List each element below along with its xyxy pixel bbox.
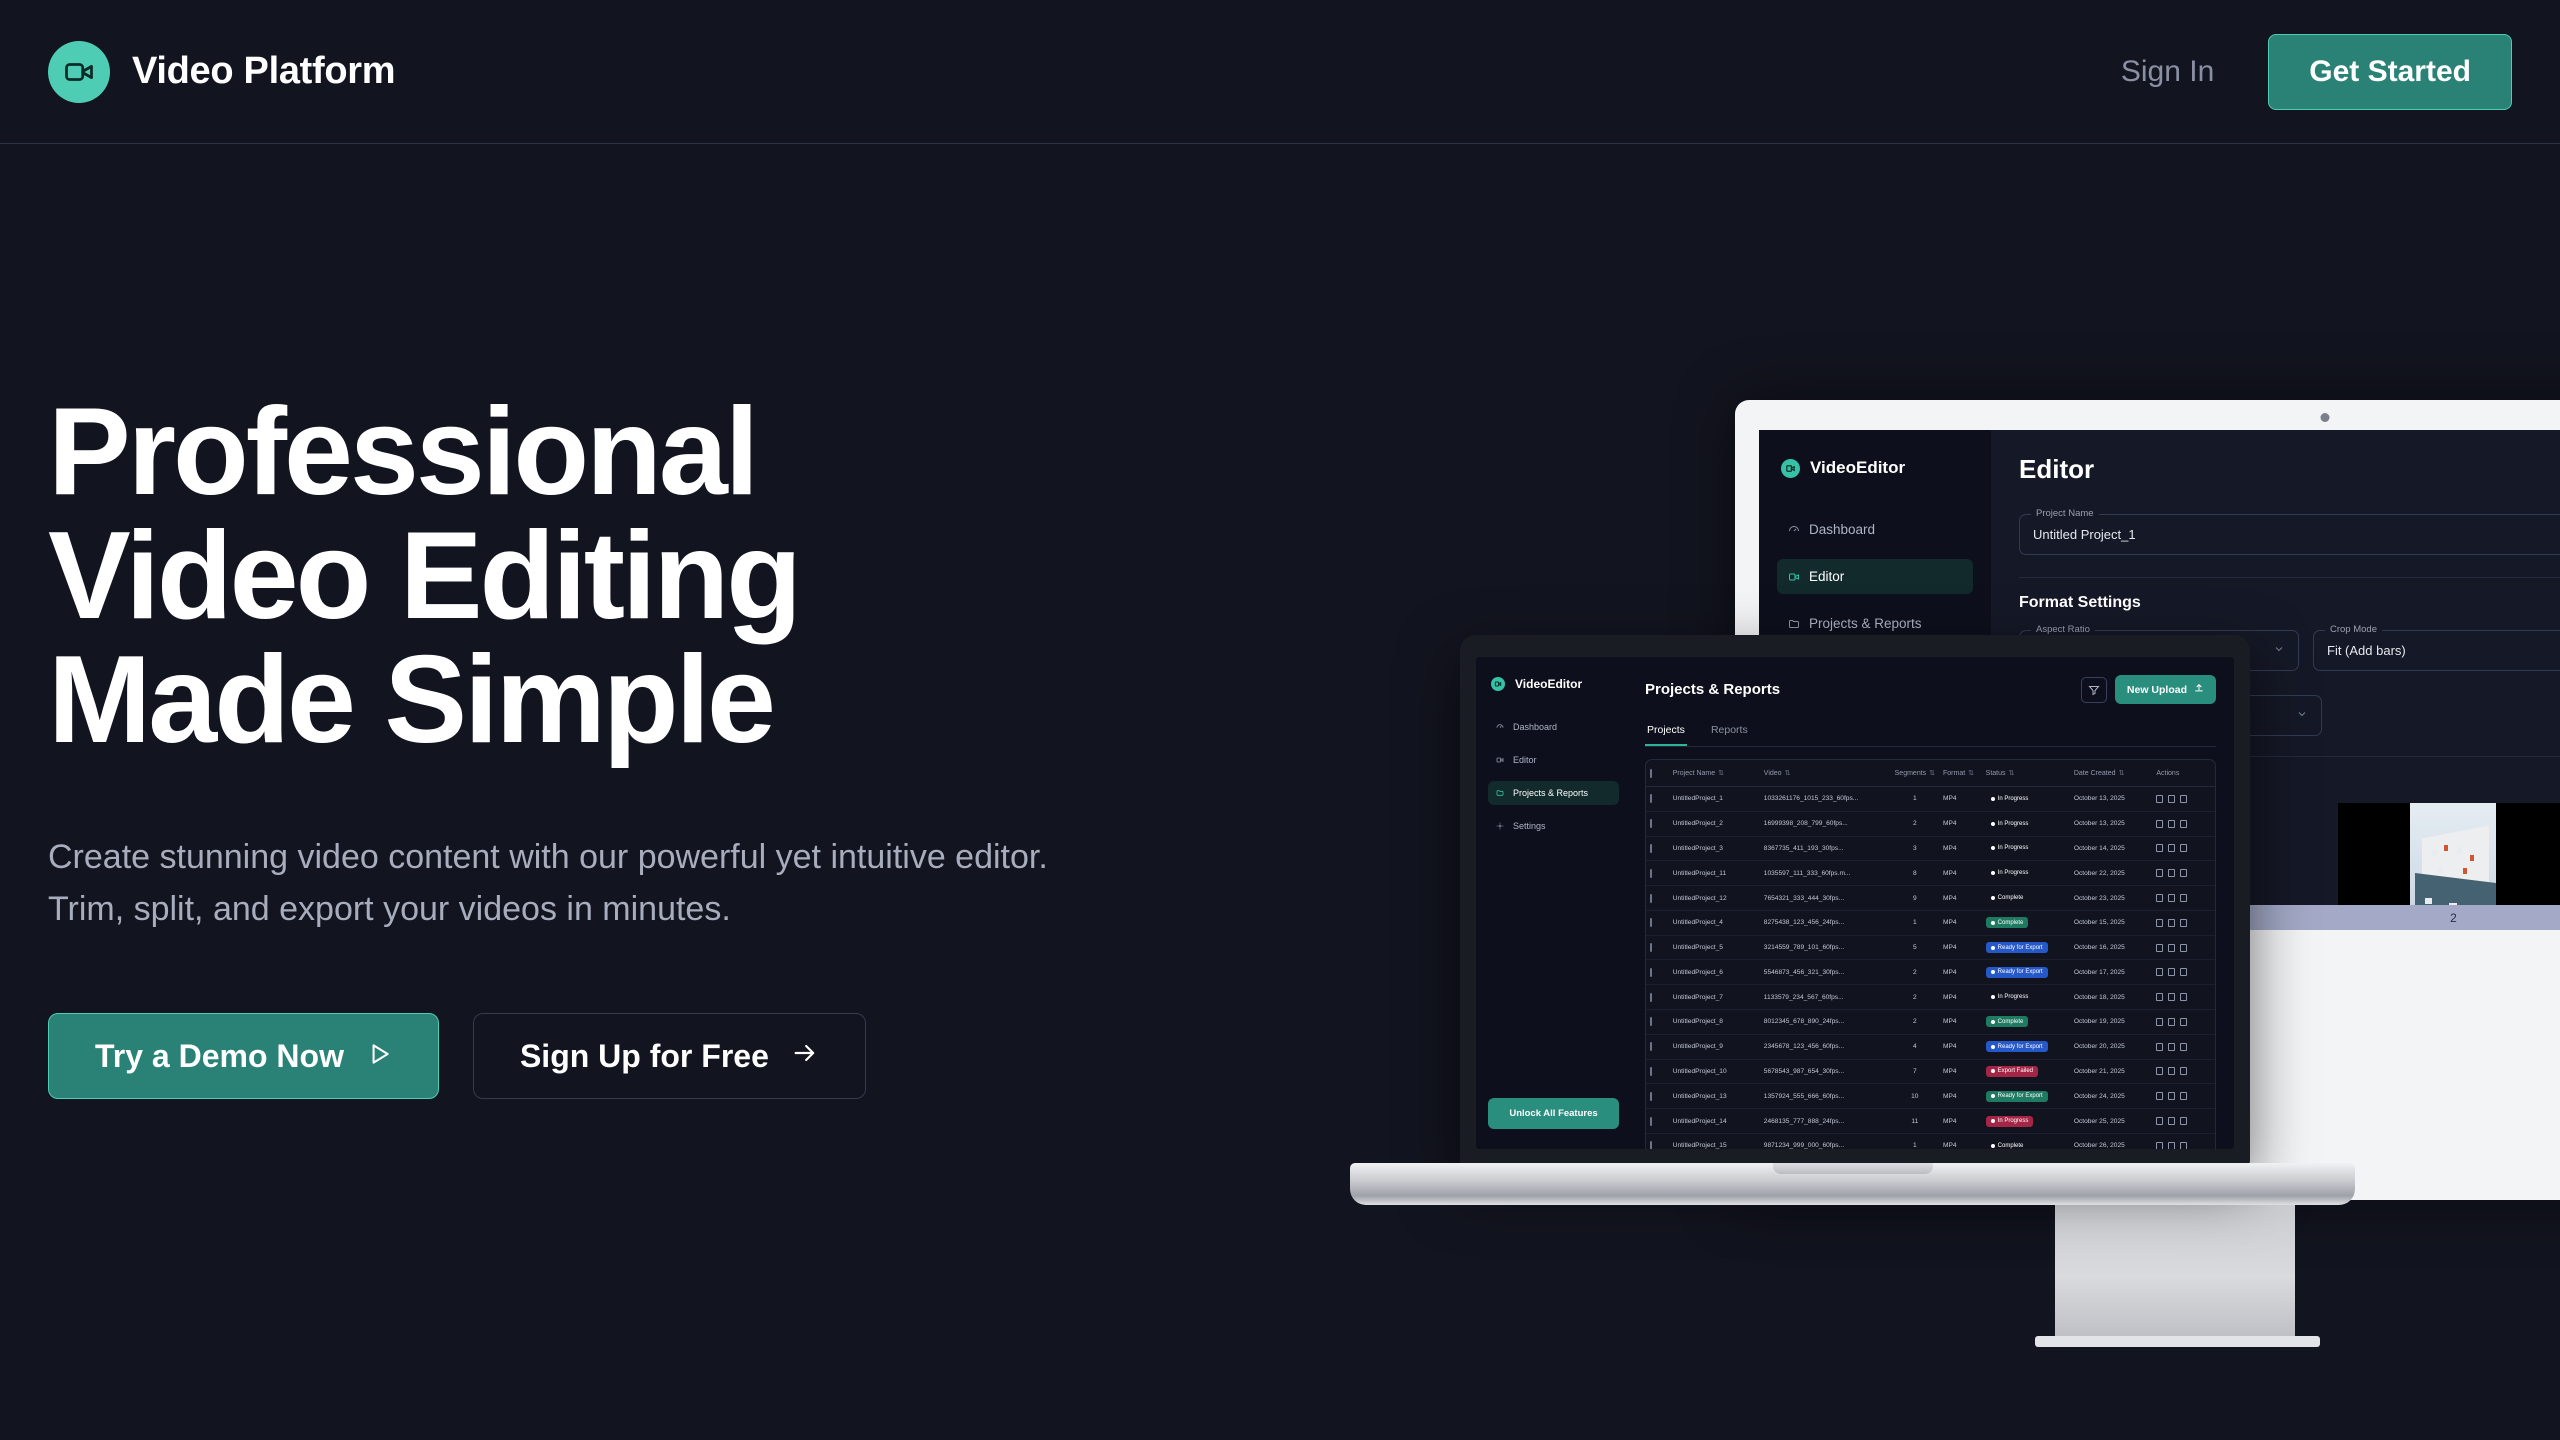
product-mockup-scene: VideoEditor Dashboard Editor Projects & … — [1350, 380, 2560, 1240]
delete-icon[interactable] — [2180, 968, 2187, 976]
monitor-app-logo[interactable]: VideoEditor — [1777, 458, 1973, 478]
sort-icon: ⇅ — [2009, 769, 2015, 777]
cell-actions[interactable] — [2152, 787, 2215, 812]
row-checkbox[interactable] — [1646, 861, 1669, 886]
video-icon — [1788, 571, 1800, 583]
try-demo-label: Try a Demo Now — [95, 1038, 344, 1075]
table-row[interactable]: UntitledProject_88012345_678_890_24fps..… — [1646, 1010, 2215, 1035]
cell-video: 1357924_555_666_60fps... — [1760, 1084, 1891, 1109]
laptop-app-logo[interactable]: VideoEditor — [1488, 677, 1619, 691]
status-dot-icon — [1991, 1069, 1995, 1073]
delete-icon[interactable] — [2180, 1067, 2187, 1075]
column-status[interactable]: Status⇅ — [1982, 760, 2070, 787]
cell-segments: 2 — [1891, 985, 1939, 1010]
try-demo-button[interactable]: Try a Demo Now — [48, 1013, 439, 1099]
cell-project-name: UntitledProject_14 — [1669, 1109, 1760, 1134]
checkbox-icon[interactable] — [1650, 1117, 1652, 1126]
editor-page-title: Editor — [2019, 454, 2094, 485]
header-actions: Sign In Get Started — [2121, 34, 2512, 110]
cell-format: MP4 — [1939, 1133, 1982, 1149]
row-checkbox[interactable] — [1646, 935, 1669, 960]
table-row[interactable]: UntitledProject_142468135_777_888_24fps.… — [1646, 1109, 2215, 1134]
edit-icon[interactable] — [2156, 1142, 2163, 1149]
cell-video: 1033261176_1015_233_60fps... — [1760, 787, 1891, 812]
monitor-app-name: VideoEditor — [1810, 458, 1905, 478]
project-name-value: Untitled Project_1 — [2033, 527, 2136, 542]
delete-icon[interactable] — [2180, 1092, 2187, 1100]
edit-icon[interactable] — [2156, 1117, 2163, 1125]
delete-icon[interactable] — [2180, 944, 2187, 952]
cell-video: 5678543_987_654_30fps... — [1760, 1059, 1891, 1084]
gauge-icon — [1788, 524, 1800, 536]
column-project-name[interactable]: Project Name⇅ — [1669, 760, 1760, 787]
project-name-input[interactable]: Project Name Untitled Project_1 — [2019, 514, 2560, 555]
status-badge: In Progress — [1986, 992, 2034, 1003]
cell-actions[interactable] — [2152, 811, 2215, 836]
funnel-icon[interactable] — [2081, 677, 2107, 703]
table-row[interactable]: UntitledProject_127654321_333_444_30fps.… — [1646, 886, 2215, 911]
row-checkbox[interactable] — [1646, 1133, 1669, 1149]
folder-icon — [1788, 618, 1800, 630]
cell-segments: 11 — [1891, 1109, 1939, 1134]
cell-status: Ready for Export — [1982, 1034, 2070, 1059]
edit-icon[interactable] — [2156, 1092, 2163, 1100]
laptop-main: Projects & Reports New Upload — [1631, 657, 2234, 1149]
download-icon[interactable] — [2168, 1092, 2175, 1100]
cell-project-name: UntitledProject_7 — [1669, 985, 1760, 1010]
cell-format: MP4 — [1939, 787, 1982, 812]
cell-video: 9871234_999_000_60fps... — [1760, 1133, 1891, 1149]
cell-segments: 1 — [1891, 787, 1939, 812]
checkbox-icon[interactable] — [1650, 1042, 1652, 1051]
cell-project-name: UntitledProject_10 — [1669, 1059, 1760, 1084]
delete-icon[interactable] — [2180, 844, 2187, 852]
sidebar-label: Editor — [1809, 569, 1844, 584]
row-checkbox[interactable] — [1646, 1109, 1669, 1134]
sidebar-label: Dashboard — [1809, 522, 1875, 537]
status-dot-icon — [1991, 970, 1995, 974]
cell-segments: 5 — [1891, 935, 1939, 960]
status-dot-icon — [1991, 871, 1995, 875]
cell-actions[interactable] — [2152, 861, 2215, 886]
edit-icon[interactable] — [2156, 968, 2163, 976]
cell-status: In Progress — [1982, 836, 2070, 861]
cell-project-name: UntitledProject_4 — [1669, 910, 1760, 935]
edit-icon[interactable] — [2156, 1018, 2163, 1026]
cell-actions[interactable] — [2152, 1059, 2215, 1084]
row-checkbox[interactable] — [1646, 836, 1669, 861]
cell-date-created: October 15, 2025 — [2070, 910, 2153, 935]
download-icon[interactable] — [2168, 968, 2175, 976]
checkbox-icon[interactable] — [1650, 794, 1652, 803]
cell-video: 2468135_777_888_24fps... — [1760, 1109, 1891, 1134]
status-dot-icon — [1991, 946, 1995, 950]
row-checkbox[interactable] — [1646, 1010, 1669, 1035]
laptop-app-name: VideoEditor — [1515, 677, 1582, 691]
cell-segments: 2 — [1891, 960, 1939, 985]
aspect-ratio-label: Aspect Ratio — [2031, 624, 2095, 635]
laptop-base-notch — [1773, 1163, 1933, 1174]
row-checkbox[interactable] — [1646, 787, 1669, 812]
checkbox-icon[interactable] — [1650, 1092, 1652, 1101]
sidebar-item-editor[interactable]: Editor — [1777, 559, 1973, 594]
column-segments[interactable]: Segments⇅ — [1891, 760, 1939, 787]
sort-icon: ⇅ — [1718, 769, 1724, 777]
cell-actions[interactable] — [2152, 960, 2215, 985]
table-row[interactable]: UntitledProject_92345678_123_456_60fps..… — [1646, 1034, 2215, 1059]
cell-actions[interactable] — [2152, 886, 2215, 911]
cell-format: MP4 — [1939, 1059, 1982, 1084]
edit-icon[interactable] — [2156, 944, 2163, 952]
get-started-button[interactable]: Get Started — [2268, 34, 2512, 110]
arrow-right-icon — [791, 1038, 819, 1075]
delete-icon[interactable] — [2180, 894, 2187, 902]
checkbox-icon[interactable] — [1650, 769, 1652, 778]
cell-video: 8275438_123_456_24fps... — [1760, 910, 1891, 935]
status-badge: In Progress — [1986, 868, 2034, 879]
table-row[interactable]: UntitledProject_105678543_987_654_30fps.… — [1646, 1059, 2215, 1084]
cell-status: Complete — [1982, 1133, 2070, 1149]
cell-format: MP4 — [1939, 935, 1982, 960]
delete-icon[interactable] — [2180, 919, 2187, 927]
monitor-header: Editor Save Exp — [2019, 454, 2560, 494]
gear-icon — [1496, 822, 1504, 830]
delete-icon[interactable] — [2180, 820, 2187, 828]
sign-in-link[interactable]: Sign In — [2121, 55, 2214, 89]
table-row[interactable]: UntitledProject_111035597_111_333_60fps.… — [1646, 861, 2215, 886]
cell-status: Complete — [1982, 1010, 2070, 1035]
cell-date-created: October 21, 2025 — [2070, 1059, 2153, 1084]
projects-table-card: Project Name⇅ Video⇅ Segments⇅ Format⇅ S… — [1645, 759, 2216, 1149]
cell-actions[interactable] — [2152, 1133, 2215, 1149]
status-dot-icon — [1991, 1045, 1995, 1049]
hero-cta-group: Try a Demo Now Sign Up for Free — [48, 1013, 1098, 1099]
tab-projects[interactable]: Projects — [1645, 718, 1687, 746]
edit-icon[interactable] — [2156, 894, 2163, 902]
status-badge: Ready for Export — [1986, 967, 2048, 978]
table-row[interactable]: UntitledProject_65546873_456_321_30fps..… — [1646, 960, 2215, 985]
cell-format: MP4 — [1939, 1010, 1982, 1035]
cell-date-created: October 20, 2025 — [2070, 1034, 2153, 1059]
column-select-all[interactable] — [1646, 760, 1669, 787]
cell-status: Ready for Export — [1982, 1084, 2070, 1109]
status-dot-icon — [1991, 1144, 1995, 1148]
cell-project-name: UntitledProject_5 — [1669, 935, 1760, 960]
cell-video: 8012345_678_890_24fps... — [1760, 1010, 1891, 1035]
cell-segments: 1 — [1891, 1133, 1939, 1149]
cell-date-created: October 17, 2025 — [2070, 960, 2153, 985]
edit-icon[interactable] — [2156, 1043, 2163, 1051]
cell-format: MP4 — [1939, 1084, 1982, 1109]
cell-video: 7654321_333_444_30fps... — [1760, 886, 1891, 911]
download-icon[interactable] — [2168, 894, 2175, 902]
cell-video: 2345678_123_456_60fps... — [1760, 1034, 1891, 1059]
row-checkbox[interactable] — [1646, 1059, 1669, 1084]
edit-icon[interactable] — [2156, 844, 2163, 852]
cell-format: MP4 — [1939, 861, 1982, 886]
status-badge: In Progress — [1986, 793, 2034, 804]
sidebar-item-dashboard[interactable]: Dashboard — [1488, 715, 1619, 739]
cell-actions[interactable] — [2152, 1010, 2215, 1035]
download-icon[interactable] — [2168, 820, 2175, 828]
row-checkbox[interactable] — [1646, 960, 1669, 985]
download-icon[interactable] — [2168, 1043, 2175, 1051]
cell-project-name: UntitledProject_15 — [1669, 1133, 1760, 1149]
sidebar-item-settings[interactable]: Settings — [1488, 814, 1619, 838]
table-row[interactable]: UntitledProject_71133579_234_567_60fps..… — [1646, 985, 2215, 1010]
video-camera-icon — [48, 41, 110, 103]
status-dot-icon — [1991, 1094, 1995, 1098]
cell-segments: 1 — [1891, 910, 1939, 935]
download-icon[interactable] — [2168, 869, 2175, 877]
sidebar-label: Editor — [1513, 755, 1537, 765]
sidebar-item-dashboard[interactable]: Dashboard — [1777, 512, 1973, 547]
cell-project-name: UntitledProject_2 — [1669, 811, 1760, 836]
download-icon[interactable] — [2168, 944, 2175, 952]
cell-status: Export Failed — [1982, 1059, 2070, 1084]
status-badge: Complete — [1986, 893, 2029, 904]
status-badge: Complete — [1986, 1016, 2029, 1027]
sign-up-button[interactable]: Sign Up for Free — [473, 1013, 866, 1099]
sort-icon: ⇅ — [1929, 769, 1935, 777]
cell-date-created: October 26, 2025 — [2070, 1133, 2153, 1149]
cell-segments: 2 — [1891, 1010, 1939, 1035]
delete-icon[interactable] — [2180, 993, 2187, 1001]
sidebar-item-editor[interactable]: Editor — [1488, 748, 1619, 772]
edit-icon[interactable] — [2156, 795, 2163, 803]
hero-section: Professional Video Editing Made Simple C… — [48, 390, 1098, 1099]
checkbox-icon[interactable] — [1650, 1017, 1652, 1026]
status-dot-icon — [1991, 921, 1995, 925]
cell-date-created: October 16, 2025 — [2070, 935, 2153, 960]
cell-project-name: UntitledProject_12 — [1669, 886, 1760, 911]
delete-icon[interactable] — [2180, 795, 2187, 803]
status-badge: Ready for Export — [1986, 1041, 2048, 1052]
gauge-icon — [1496, 723, 1504, 731]
sidebar-item-projects-reports[interactable]: Projects & Reports — [1488, 781, 1619, 805]
tab-reports[interactable]: Reports — [1709, 718, 1750, 746]
row-checkbox[interactable] — [1646, 886, 1669, 911]
cell-segments: 10 — [1891, 1084, 1939, 1109]
hero-title-line-1: Professional — [48, 383, 756, 521]
cell-status: Ready for Export — [1982, 935, 2070, 960]
status-badge: In Progress — [1986, 1116, 2034, 1127]
cell-status: In Progress — [1982, 1109, 2070, 1134]
status-badge: Complete — [1986, 917, 2029, 928]
upload-icon — [2194, 683, 2204, 696]
laptop-header: Projects & Reports New Upload — [1645, 675, 2216, 704]
cell-actions[interactable] — [2152, 910, 2215, 935]
download-icon[interactable] — [2168, 1117, 2175, 1125]
table-row[interactable]: UntitledProject_38367735_411_193_30fps..… — [1646, 836, 2215, 861]
laptop-screen: VideoEditor Dashboard Editor Projects & … — [1476, 657, 2234, 1149]
checkbox-icon[interactable] — [1650, 993, 1652, 1002]
cell-video: 16999398_208_799_60fps... — [1760, 811, 1891, 836]
cell-project-name: UntitledProject_9 — [1669, 1034, 1760, 1059]
cell-project-name: UntitledProject_6 — [1669, 960, 1760, 985]
delete-icon[interactable] — [2180, 1018, 2187, 1026]
checkbox-icon[interactable] — [1650, 844, 1652, 853]
cell-actions[interactable] — [2152, 1109, 2215, 1134]
laptop-mockup: VideoEditor Dashboard Editor Projects & … — [1350, 635, 2355, 1240]
column-date-created[interactable]: Date Created⇅ — [2070, 760, 2153, 787]
cell-date-created: October 23, 2025 — [2070, 886, 2153, 911]
laptop-sidebar: VideoEditor Dashboard Editor Projects & … — [1476, 657, 1631, 1149]
monitor-stand-base — [2035, 1336, 2320, 1347]
status-badge: Ready for Export — [1986, 1091, 2048, 1102]
download-icon[interactable] — [2168, 1018, 2175, 1026]
cell-segments: 3 — [1891, 836, 1939, 861]
cell-date-created: October 22, 2025 — [2070, 861, 2153, 886]
table-header: Project Name⇅ Video⇅ Segments⇅ Format⇅ S… — [1646, 760, 2215, 787]
edit-icon[interactable] — [2156, 919, 2163, 927]
cell-status: In Progress — [1982, 861, 2070, 886]
edit-icon[interactable] — [2156, 869, 2163, 877]
page-title: Professional Video Editing Made Simple — [48, 390, 1098, 762]
edit-icon[interactable] — [2156, 1067, 2163, 1075]
row-checkbox[interactable] — [1646, 1034, 1669, 1059]
checkbox-icon[interactable] — [1650, 894, 1652, 903]
cell-status: In Progress — [1982, 787, 2070, 812]
table-row[interactable]: UntitledProject_11033261176_1015_233_60f… — [1646, 787, 2215, 812]
cell-actions[interactable] — [2152, 1034, 2215, 1059]
row-checkbox[interactable] — [1646, 985, 1669, 1010]
cell-date-created: October 13, 2025 — [2070, 811, 2153, 836]
table-body: UntitledProject_11033261176_1015_233_60f… — [1646, 787, 2215, 1150]
cell-format: MP4 — [1939, 960, 1982, 985]
cell-project-name: UntitledProject_13 — [1669, 1084, 1760, 1109]
laptop-notch — [1812, 635, 1898, 651]
cell-date-created: October 24, 2025 — [2070, 1084, 2153, 1109]
checkbox-icon[interactable] — [1650, 943, 1652, 952]
cell-format: MP4 — [1939, 886, 1982, 911]
sidebar-label: Projects & Reports — [1513, 788, 1588, 798]
status-dot-icon — [1991, 1119, 1995, 1123]
column-video[interactable]: Video⇅ — [1760, 760, 1891, 787]
cell-actions[interactable] — [2152, 935, 2215, 960]
edit-icon[interactable] — [2156, 993, 2163, 1001]
status-badge: Export Failed — [1986, 1066, 2038, 1077]
download-icon[interactable] — [2168, 844, 2175, 852]
status-dot-icon — [1991, 797, 1995, 801]
cell-video: 1133579_234_567_60fps... — [1760, 985, 1891, 1010]
edit-icon[interactable] — [2156, 820, 2163, 828]
unlock-all-features-button[interactable]: Unlock All Features — [1488, 1098, 1619, 1129]
table-row[interactable]: UntitledProject_159871234_999_000_60fps.… — [1646, 1133, 2215, 1149]
video-icon — [1781, 459, 1800, 478]
cell-status: Complete — [1982, 886, 2070, 911]
status-badge: In Progress — [1986, 843, 2034, 854]
status-dot-icon — [1991, 995, 1995, 999]
row-checkbox[interactable] — [1646, 910, 1669, 935]
cell-status: In Progress — [1982, 811, 2070, 836]
checkbox-icon[interactable] — [1650, 968, 1652, 977]
table-row[interactable]: UntitledProject_131357924_555_666_60fps.… — [1646, 1084, 2215, 1109]
status-badge: In Progress — [1986, 818, 2034, 829]
delete-icon[interactable] — [2180, 1142, 2187, 1149]
cell-format: MP4 — [1939, 1034, 1982, 1059]
cell-video: 3214559_789_101_60fps... — [1760, 935, 1891, 960]
cell-actions[interactable] — [2152, 985, 2215, 1010]
crop-mode-label: Crop Mode — [2325, 624, 2382, 635]
row-checkbox[interactable] — [1646, 1084, 1669, 1109]
cell-date-created: October 19, 2025 — [2070, 1010, 2153, 1035]
cell-status: In Progress — [1982, 985, 2070, 1010]
sidebar-label: Projects & Reports — [1809, 616, 1922, 631]
brand-logo[interactable]: Video Platform — [48, 41, 395, 103]
format-settings-heading: Format Settings — [2019, 594, 2560, 612]
download-icon[interactable] — [2168, 919, 2175, 927]
new-upload-button[interactable]: New Upload — [2115, 675, 2216, 704]
status-dot-icon — [1991, 822, 1995, 826]
hero-subtitle: Create stunning video content with our p… — [48, 832, 1098, 935]
checkbox-icon[interactable] — [1650, 918, 1652, 927]
site-header: Video Platform Sign In Get Started — [0, 0, 2560, 144]
cell-project-name: UntitledProject_8 — [1669, 1010, 1760, 1035]
table-row[interactable]: UntitledProject_53214559_789_101_60fps..… — [1646, 935, 2215, 960]
status-badge: Complete — [1986, 1140, 2029, 1149]
cell-actions[interactable] — [2152, 836, 2215, 861]
cell-project-name: UntitledProject_1 — [1669, 787, 1760, 812]
video-icon — [1491, 677, 1505, 691]
checkbox-icon[interactable] — [1650, 819, 1652, 828]
divider — [2019, 577, 2560, 578]
status-dot-icon — [1991, 1020, 1995, 1024]
cell-segments: 4 — [1891, 1034, 1939, 1059]
cell-video: 1035597_111_333_60fps.m... — [1760, 861, 1891, 886]
cell-actions[interactable] — [2152, 1084, 2215, 1109]
download-icon[interactable] — [2168, 795, 2175, 803]
cell-date-created: October 18, 2025 — [2070, 985, 2153, 1010]
row-checkbox[interactable] — [1646, 811, 1669, 836]
status-badge: Ready for Export — [1986, 942, 2048, 953]
delete-icon[interactable] — [2180, 1117, 2187, 1125]
status-dot-icon — [1991, 846, 1995, 850]
video-icon — [1496, 756, 1504, 764]
cell-status: Complete — [1982, 910, 2070, 935]
cell-format: MP4 — [1939, 811, 1982, 836]
checkbox-icon[interactable] — [1650, 869, 1652, 878]
cell-date-created: October 25, 2025 — [2070, 1109, 2153, 1134]
sign-up-label: Sign Up for Free — [520, 1038, 769, 1075]
laptop-lid: VideoEditor Dashboard Editor Projects & … — [1460, 635, 2250, 1165]
cell-format: MP4 — [1939, 1109, 1982, 1134]
play-triangle-icon — [366, 1038, 392, 1075]
projects-actions: New Upload — [2081, 675, 2216, 704]
cell-date-created: October 13, 2025 — [2070, 787, 2153, 812]
column-format[interactable]: Format⇅ — [1939, 760, 1982, 787]
cell-project-name: UntitledProject_11 — [1669, 861, 1760, 886]
table-row[interactable]: UntitledProject_48275438_123_456_24fps..… — [1646, 910, 2215, 935]
sort-icon: ⇅ — [2119, 769, 2125, 777]
delete-icon[interactable] — [2180, 869, 2187, 877]
download-icon[interactable] — [2168, 1142, 2175, 1149]
cell-segments: 9 — [1891, 886, 1939, 911]
download-icon[interactable] — [2168, 1067, 2175, 1075]
cell-format: MP4 — [1939, 910, 1982, 935]
projects-tabs: Projects Reports — [1645, 718, 2216, 747]
delete-icon[interactable] — [2180, 1043, 2187, 1051]
cell-date-created: October 14, 2025 — [2070, 836, 2153, 861]
checkbox-icon[interactable] — [1650, 1141, 1652, 1149]
checkbox-icon[interactable] — [1650, 1067, 1652, 1076]
table-row[interactable]: UntitledProject_216999398_208_799_60fps.… — [1646, 811, 2215, 836]
cell-segments: 2 — [1891, 811, 1939, 836]
cell-video: 5546873_456_321_30fps... — [1760, 960, 1891, 985]
folder-icon — [1496, 789, 1504, 797]
download-icon[interactable] — [2168, 993, 2175, 1001]
projects-table: Project Name⇅ Video⇅ Segments⇅ Format⇅ S… — [1646, 760, 2215, 1149]
